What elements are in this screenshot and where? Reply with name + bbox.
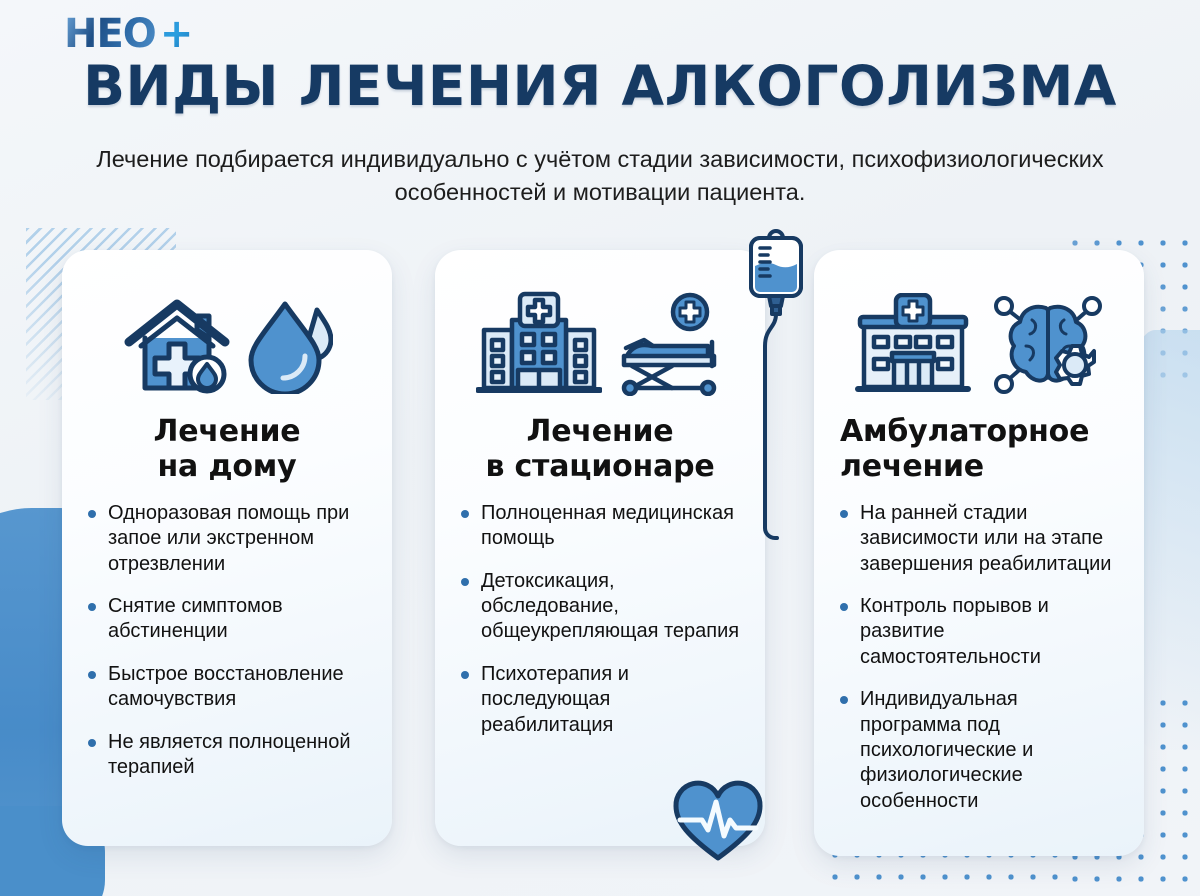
card-outpatient-title: Амбулаторное лечение bbox=[836, 414, 1122, 485]
card-outpatient-icons bbox=[836, 284, 1122, 404]
card-home-title-line1: Лечение bbox=[154, 414, 301, 449]
card-outpatient-treatment: Амбулаторное лечение На ранней стадии за… bbox=[814, 250, 1144, 856]
cards-container: Лечение на дому Одноразовая помощь при з… bbox=[0, 250, 1200, 860]
list-item: Быстрое восстановление самочувствия bbox=[86, 662, 370, 713]
iv-drip-icon bbox=[733, 228, 823, 568]
card-inpatient-title-line2: в стационаре bbox=[485, 449, 714, 484]
heart-pulse-icon bbox=[672, 778, 764, 864]
home-medical-icon bbox=[121, 294, 233, 394]
list-item: Полноценная медицинская помощь bbox=[459, 501, 743, 552]
list-item: На ранней стадии зависимости или на этап… bbox=[838, 501, 1122, 577]
list-item: Не является полноценной терапией bbox=[86, 730, 370, 781]
infographic-canvas: НЕО + ВИДЫ ЛЕЧЕНИЯ АЛКОГОЛИЗМА Лечение п… bbox=[0, 0, 1200, 896]
card-inpatient-treatment: Лечение в стационаре Полноценная медицин… bbox=[435, 250, 765, 846]
page-title: ВИДЫ ЛЕЧЕНИЯ АЛКОГОЛИЗМА bbox=[0, 54, 1200, 118]
list-item: Индивидуальная программа под психологиче… bbox=[838, 687, 1122, 814]
list-item: Психотерапия и последующая реабилитация bbox=[459, 662, 743, 738]
list-item: Контроль порывов и развитие самостоятель… bbox=[838, 594, 1122, 670]
list-item: Детоксикация, обследование, общеукрепляю… bbox=[459, 569, 743, 645]
card-inpatient-icons bbox=[457, 284, 743, 404]
hospital-building-icon bbox=[476, 290, 602, 398]
card-inpatient-title-line1: Лечение bbox=[527, 414, 674, 449]
water-drop-icon bbox=[247, 294, 333, 394]
clinic-building-icon bbox=[854, 293, 972, 395]
card-home-icons bbox=[84, 284, 370, 404]
card-home-title: Лечение на дому bbox=[84, 414, 370, 485]
logo-wordmark: НЕО bbox=[64, 14, 156, 54]
card-home-bullets: Одноразовая помощь при запое или экстрен… bbox=[84, 501, 370, 798]
list-item: Снятие симптомов абстиненции bbox=[86, 594, 370, 645]
list-item: Одноразовая помощь при запое или экстрен… bbox=[86, 501, 370, 577]
card-outpatient-title-line2: лечение bbox=[840, 449, 984, 484]
card-outpatient-bullets: На ранней стадии зависимости или на этап… bbox=[836, 501, 1122, 831]
logo-plus-icon: + bbox=[160, 14, 193, 54]
card-inpatient-bullets: Полноценная медицинская помощь Детоксика… bbox=[457, 501, 743, 755]
card-home-title-line2: на дому bbox=[158, 449, 297, 484]
page-subtitle: Лечение подбирается индивидуально с учёт… bbox=[90, 143, 1110, 210]
hospital-bed-icon bbox=[616, 292, 724, 396]
card-outpatient-title-line1: Амбулаторное bbox=[840, 414, 1089, 449]
card-inpatient-title: Лечение в стационаре bbox=[457, 414, 743, 485]
neo-plus-logo: НЕО + bbox=[64, 14, 192, 54]
brain-gear-icon bbox=[992, 292, 1104, 396]
card-home-treatment: Лечение на дому Одноразовая помощь при з… bbox=[62, 250, 392, 846]
